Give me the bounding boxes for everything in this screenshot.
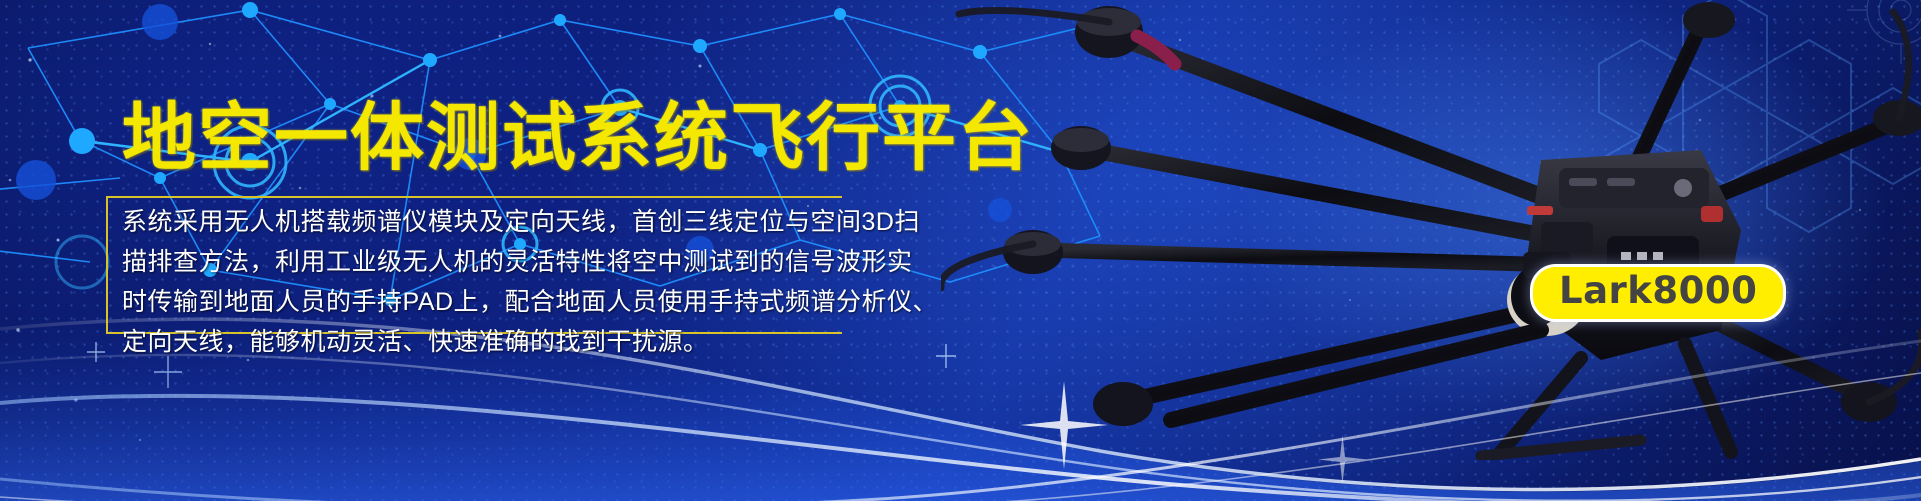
- description-line: 系统采用无人机搭载频谱仪模块及定向天线，首创三线定位与空间3D扫: [122, 202, 842, 242]
- promo-banner: 地空一体测试系统飞行平台 系统采用无人机搭载频谱仪模块及定向天线，首创三线定位与…: [0, 0, 1921, 501]
- description-textbox: 系统采用无人机搭载频谱仪模块及定向天线，首创三线定位与空间3D扫 描排查方法，利…: [106, 196, 842, 334]
- description-line: 描排查方法，利用工业级无人机的灵活特性将空中测试到的信号波形实: [122, 242, 842, 282]
- drone-photo: [941, 0, 1921, 460]
- description-line: 定向天线，能够机动灵活、快速准确的找到干扰源。: [122, 322, 842, 362]
- description-line: 时传输到地面人员的手持PAD上，配合地面人员使用手持式频谱分析仪、: [122, 282, 842, 322]
- page-title: 地空一体测试系统飞行平台: [122, 78, 1034, 185]
- product-model-badge: Lark8000: [1530, 264, 1786, 322]
